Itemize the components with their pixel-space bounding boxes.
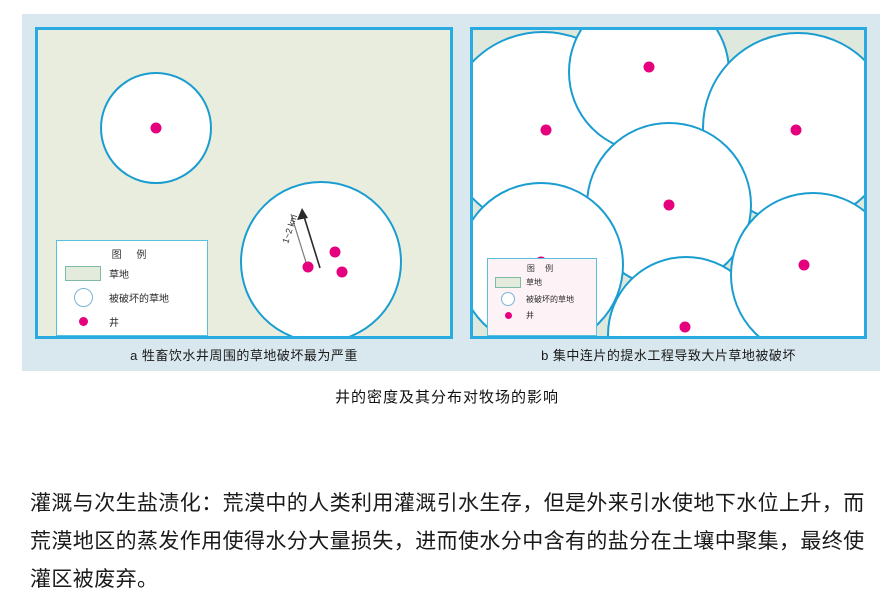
legend-item-label: 井 [522, 310, 534, 321]
legend-item-degraded: 被破坏的草地 [494, 292, 590, 306]
well-dot-icon [63, 317, 103, 326]
well-dot [791, 125, 802, 136]
well-dot [330, 247, 341, 258]
grassland-swatch-icon [494, 277, 522, 288]
well-dot-icon [494, 312, 522, 319]
figure-panel-b: 图 例 草地 被破坏的草地 井 [470, 27, 867, 339]
legend-title: 图 例 [494, 263, 590, 274]
legend-panel-a: 图 例 草地 被破坏的草地 井 [56, 240, 208, 336]
well-dot [303, 262, 314, 273]
well-dot [680, 322, 691, 333]
figure-title: 井的密度及其分布对牧场的影响 [0, 386, 894, 407]
panel-b-caption: b 集中连片的提水工程导致大片草地被破坏 [470, 344, 867, 368]
degraded-grassland-circle [241, 182, 401, 336]
legend-item-degraded: 被破坏的草地 [63, 288, 201, 307]
legend-item-well: 井 [494, 310, 590, 321]
panel-a-caption: a 牲畜饮水井周围的草地破坏最为严重 [35, 344, 453, 368]
well-dot [151, 123, 162, 134]
legend-item-label: 被破坏的草地 [103, 290, 169, 305]
legend-item-label: 被破坏的草地 [522, 294, 574, 305]
figure-panel-a: 1~2 km 图 例 草地 被破坏的草地 [35, 27, 453, 339]
degraded-circle-icon [494, 292, 522, 306]
well-dot [799, 260, 810, 271]
well-dot [644, 62, 655, 73]
legend-title: 图 例 [63, 246, 201, 261]
legend-item-well: 井 [63, 314, 201, 329]
figure-block: 1~2 km 图 例 草地 被破坏的草地 [22, 14, 880, 371]
well-dot [664, 200, 675, 211]
legend-panel-b: 图 例 草地 被破坏的草地 井 [487, 258, 597, 336]
body-paragraph: 灌溉与次生盐渍化：荒漠中的人类利用灌溉引水生存，但是外来引水使地下水位上升，而荒… [30, 485, 868, 599]
legend-item-label: 草地 [522, 277, 542, 288]
degraded-circle-icon [63, 288, 103, 307]
well-dot [541, 125, 552, 136]
legend-item-grassland: 草地 [494, 277, 590, 288]
well-dot [337, 267, 348, 278]
legend-item-grassland: 草地 [63, 266, 201, 281]
legend-item-label: 草地 [103, 266, 129, 281]
legend-item-label: 井 [103, 314, 119, 329]
grassland-swatch-icon [63, 266, 103, 281]
